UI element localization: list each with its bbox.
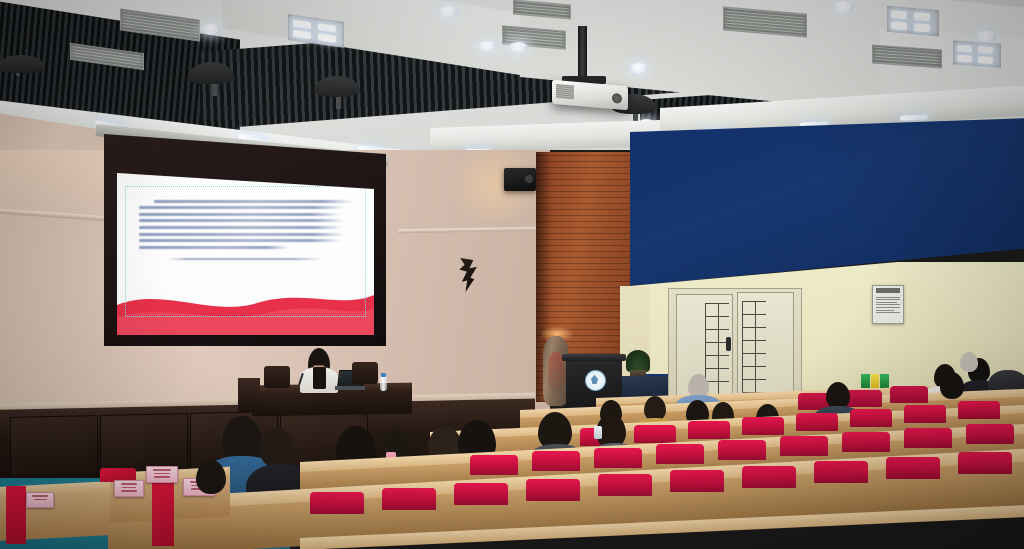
seat[interactable] [526,479,580,501]
recessed-downlight [630,63,648,73]
seat[interactable] [796,413,838,431]
square-light-cluster [887,6,939,37]
red-cloth-drape [152,474,174,546]
seat[interactable] [598,474,652,496]
recessed-downlight [509,42,528,52]
exit-sign [861,374,889,388]
seat[interactable] [958,452,1012,474]
seat[interactable] [532,451,580,471]
red-cloth-drape [6,486,26,544]
slide-text-block [139,196,347,260]
seat[interactable] [904,428,952,448]
seat[interactable] [688,421,730,439]
seat[interactable] [780,436,828,456]
name-placard [114,480,144,497]
attendee-head [196,460,226,494]
seat[interactable] [594,448,642,468]
recessed-downlight [201,24,221,35]
recessed-downlight [976,31,996,42]
seat[interactable] [310,492,364,514]
potted-plant [626,350,650,372]
seat[interactable] [958,401,1000,419]
wall-notice-frame [872,285,904,324]
seat[interactable] [890,386,928,403]
drink-cup [594,426,602,439]
stage-chair [352,362,378,384]
seat[interactable] [842,432,890,452]
wall-speaker [504,168,536,191]
door-glass-pane [742,301,766,393]
laptop-base [335,386,365,390]
slide-citation-line [168,258,322,260]
square-light-cluster [953,40,1001,67]
recessed-downlight [478,41,497,51]
notice-header-bar [876,288,900,293]
seat[interactable] [718,440,766,460]
projection-screen [117,170,374,335]
recessed-downlight [438,6,459,17]
seat[interactable] [382,488,436,510]
name-placard [146,466,178,483]
door-handle-icon[interactable] [726,337,731,351]
seat[interactable] [470,455,518,475]
speaker-cone-icon [525,175,533,183]
seat[interactable] [670,470,724,492]
name-placard [26,492,54,508]
seat[interactable] [966,424,1014,444]
attendee-head [260,428,295,468]
recessed-downlight [833,1,854,13]
seat[interactable] [634,425,676,443]
seat[interactable] [454,483,508,505]
seat[interactable] [886,457,940,479]
head-table-side [238,378,260,412]
head-table [252,390,412,417]
seat[interactable] [850,409,892,427]
seat[interactable] [904,405,946,423]
attendee-head [826,382,850,409]
seat[interactable] [814,461,868,483]
podium-top [562,354,626,361]
attendee-head [960,352,978,372]
seat[interactable] [742,466,796,488]
bottle-cap-icon [381,373,386,377]
door-leaf-right[interactable] [737,292,794,406]
water-bottle [380,376,387,391]
seat[interactable] [742,417,784,435]
presenter-inner-top [313,367,326,389]
projector-mount-pole [578,26,587,82]
stage-front-panel [10,415,98,477]
attendee-head [940,372,964,399]
seat[interactable] [656,444,704,464]
lecture-hall-photo [0,0,1024,549]
stage-chair [264,366,290,388]
